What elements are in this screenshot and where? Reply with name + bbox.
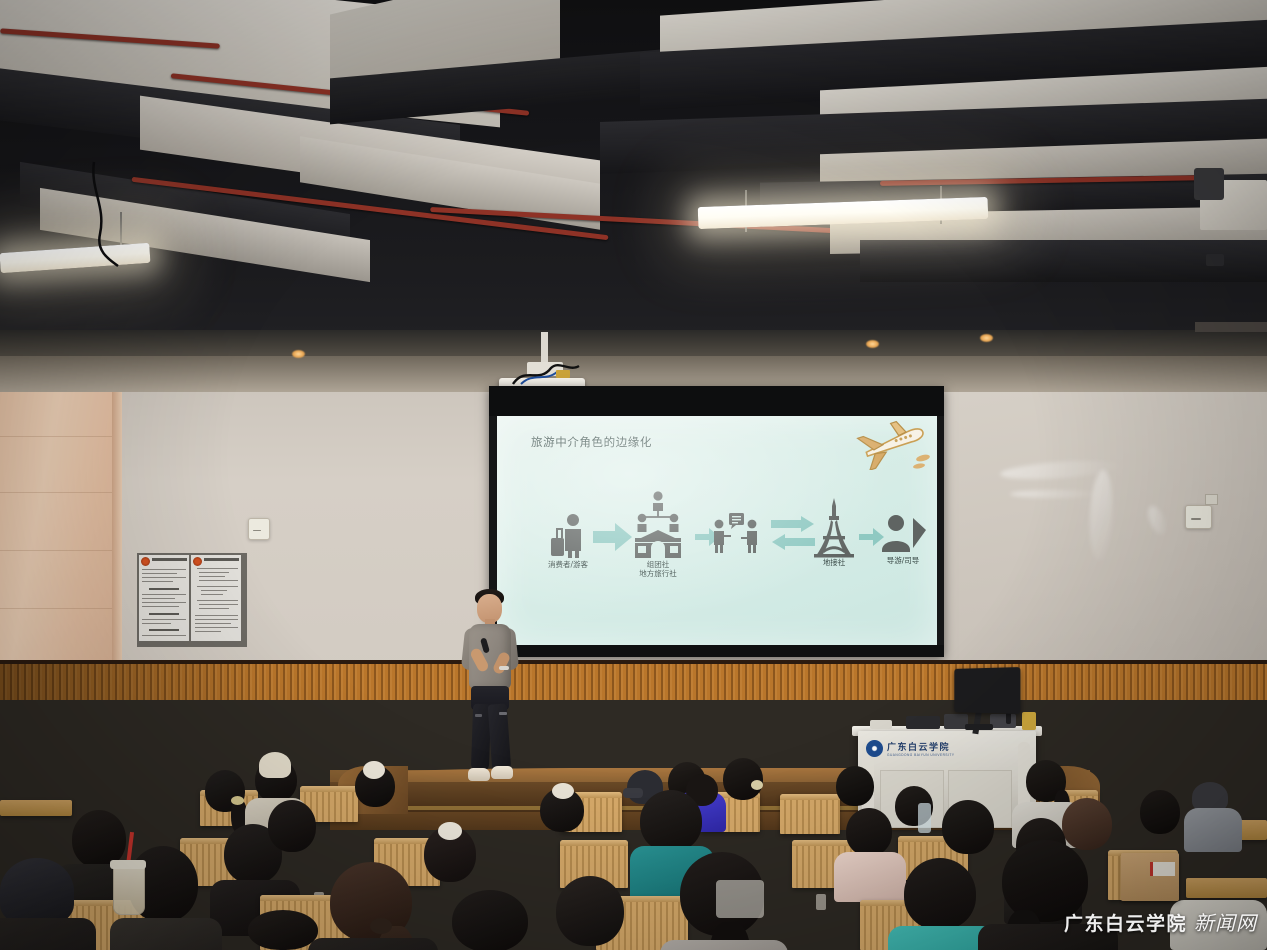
podium-brand-cn: 广东白云学院 [887, 740, 955, 753]
head [268, 800, 316, 852]
water-bottle[interactable] [1022, 712, 1036, 730]
classroom-regulations-poster [137, 553, 247, 647]
recessed-downlight [980, 334, 993, 342]
cup-lid [110, 860, 146, 869]
speaker-box [1206, 254, 1224, 266]
cap-brim [623, 788, 643, 798]
university-logo-icon [866, 740, 883, 757]
hair-clip [438, 822, 462, 840]
hair-bow [363, 761, 385, 779]
head [556, 876, 624, 946]
presenter-shoe [491, 766, 513, 779]
pants-tag [475, 714, 482, 717]
head [836, 766, 874, 806]
desk-device[interactable] [906, 716, 940, 729]
desk-paper [870, 720, 892, 729]
body [308, 938, 438, 950]
lecture-hall-photo: 旅游中介角色的边缘化 [0, 0, 1267, 950]
wall-outlet[interactable] [1205, 494, 1218, 505]
hair-tie [751, 780, 763, 790]
screen-glare [497, 416, 937, 648]
body [0, 918, 96, 950]
seat-desk [0, 800, 72, 816]
screen-bottom-bar [489, 645, 944, 657]
head [846, 808, 892, 856]
auditorium-seat[interactable] [780, 794, 840, 834]
monitor-base [965, 724, 993, 730]
head [723, 758, 763, 800]
hair-clip [552, 783, 574, 799]
computer-monitor [954, 667, 1020, 714]
ceiling-trim [1195, 322, 1267, 332]
wall-column [0, 392, 120, 672]
desk-device[interactable] [990, 714, 1016, 728]
head [942, 800, 994, 854]
body [834, 852, 906, 902]
pants-tag [499, 712, 507, 715]
ac-duct [1194, 168, 1224, 200]
head [904, 858, 976, 930]
seat-desk [1186, 878, 1267, 898]
screen-top-casing [489, 386, 944, 416]
recessed-downlight [866, 340, 879, 348]
presenter [455, 586, 521, 792]
presenter-shoe [468, 768, 490, 781]
watermark-org: 广东白云学院 [1064, 909, 1187, 936]
watermark: 广东白云学院 新闻网 [1064, 907, 1257, 936]
bag-label [1150, 862, 1175, 876]
watermark-site: 新闻网 [1194, 907, 1257, 936]
body [660, 940, 788, 950]
column-edge [112, 392, 122, 672]
seat-mount-bracket [816, 894, 826, 910]
wall-switch[interactable] [248, 518, 270, 540]
water-bottle [918, 803, 931, 833]
wristwatch [499, 666, 509, 670]
hair-tie [231, 796, 244, 805]
recessed-downlight [292, 350, 305, 358]
podium-branding: 广东白云学院 GUANGDONG BAIYUN UNIVERSITY [866, 740, 1030, 764]
drink-cup [113, 865, 145, 915]
head [452, 890, 528, 950]
wall-reflection [1010, 490, 1100, 498]
snack-wrapper [716, 880, 764, 918]
head [248, 910, 318, 950]
hanging-cable [88, 160, 148, 270]
head-with-cap [0, 858, 74, 924]
wall-control-panel[interactable] [1185, 505, 1212, 529]
hair-tie [370, 918, 392, 934]
projector-cables [505, 360, 585, 386]
head [1140, 790, 1180, 834]
body [110, 918, 222, 950]
head [640, 790, 702, 852]
body [1184, 808, 1242, 852]
head [1062, 798, 1112, 850]
podium-brand-en: GUANGDONG BAIYUN UNIVERSITY [887, 753, 955, 757]
hair-bow [259, 752, 291, 778]
projector-connector [556, 370, 570, 378]
paper-bag [1121, 853, 1179, 901]
